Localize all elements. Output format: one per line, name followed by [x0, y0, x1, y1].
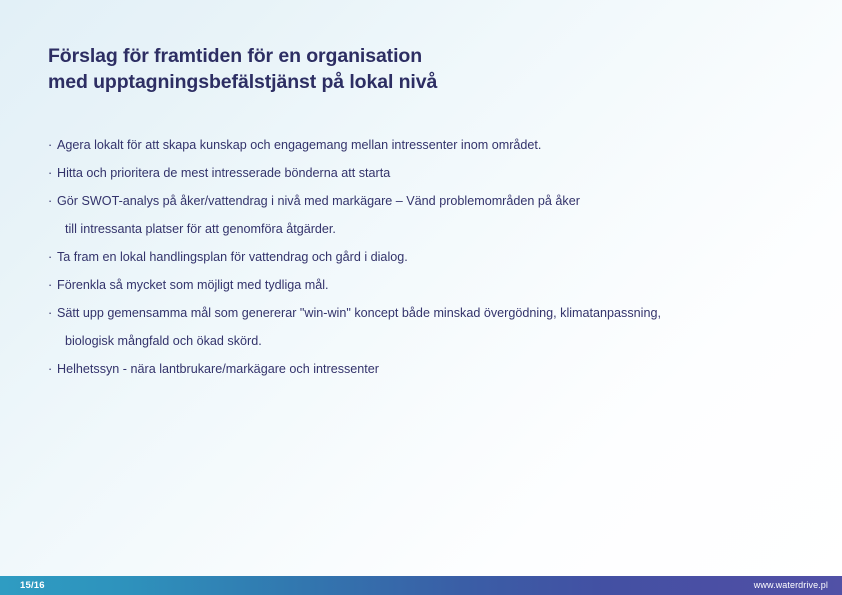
- list-item: · Agera lokalt för att skapa kunskap och…: [48, 131, 808, 159]
- bullet-dot-icon: ·: [48, 159, 57, 187]
- footer-website-url: www.waterdrive.pl: [754, 576, 828, 595]
- list-item: · Förenkla så mycket som möjligt med tyd…: [48, 271, 808, 299]
- list-item-label: biologisk mångfald och ökad skörd.: [57, 327, 262, 355]
- list-item: · Hitta och prioritera de mest intresser…: [48, 159, 808, 187]
- slide-page-indicator: 15/16: [20, 576, 45, 595]
- bullet-dot-icon: ·: [48, 271, 57, 299]
- list-item-label: Förenkla så mycket som möjligt med tydli…: [57, 271, 329, 299]
- list-item-label: Sätt upp gemensamma mål som genererar "w…: [57, 299, 661, 327]
- bullet-dot-icon: ·: [48, 187, 57, 215]
- bullet-list: · Agera lokalt för att skapa kunskap och…: [48, 131, 808, 383]
- bullet-dot-icon: ·: [48, 355, 57, 383]
- list-item: · Gör SWOT-analys på åker/vattendrag i n…: [48, 187, 808, 215]
- list-item-label: Helhetssyn - nära lantbrukare/markägare …: [57, 355, 379, 383]
- title-line-1: Förslag för framtiden för en organisatio…: [48, 43, 748, 69]
- bullet-dot-icon: ·: [48, 243, 57, 271]
- list-item-label: Gör SWOT-analys på åker/vattendrag i niv…: [57, 187, 580, 215]
- presentation-slide: Förslag för framtiden för en organisatio…: [0, 0, 842, 595]
- list-item-continuation: · till intressanta platser för att genom…: [48, 215, 808, 243]
- page-title: Förslag för framtiden för en organisatio…: [48, 43, 748, 95]
- bullet-dot-icon: ·: [48, 131, 57, 159]
- list-item-continuation: · biologisk mångfald och ökad skörd.: [48, 327, 808, 355]
- title-line-2: med upptagningsbefälstjänst på lokal niv…: [48, 69, 748, 95]
- bullet-dot-icon: ·: [48, 299, 57, 327]
- list-item-label: Ta fram en lokal handlingsplan för vatte…: [57, 243, 408, 271]
- list-item: · Ta fram en lokal handlingsplan för vat…: [48, 243, 808, 271]
- footer-bar: 15/16 www.waterdrive.pl: [0, 576, 842, 595]
- list-item-label: till intressanta platser för att genomfö…: [57, 215, 336, 243]
- list-item: · Helhetssyn - nära lantbrukare/markägar…: [48, 355, 808, 383]
- list-item-label: Hitta och prioritera de mest intresserad…: [57, 159, 390, 187]
- list-item: · Sätt upp gemensamma mål som genererar …: [48, 299, 808, 327]
- list-item-label: Agera lokalt för att skapa kunskap och e…: [57, 131, 541, 159]
